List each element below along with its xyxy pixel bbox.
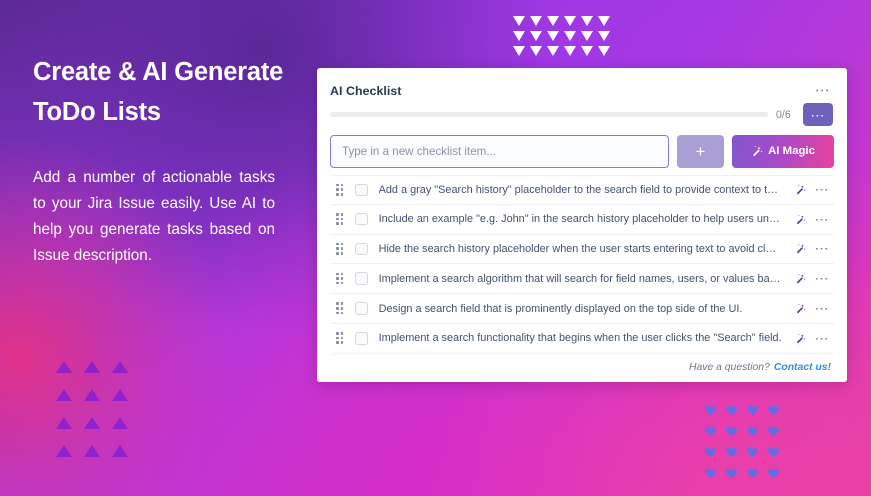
decor-triangle <box>598 31 610 41</box>
checklist-item-label: Add a gray "Search history" placeholder … <box>379 183 790 197</box>
checklist-item-menu-ellipsis-icon[interactable]: ⋯ <box>810 335 834 342</box>
decor-heart <box>726 427 737 437</box>
decor-triangle <box>84 389 100 401</box>
checklist-item-checkbox[interactable] <box>355 184 368 197</box>
decor-heart <box>768 469 779 479</box>
decor-triangle <box>56 445 72 457</box>
decor-triangle <box>112 361 128 373</box>
checklist-item-menu-ellipsis-icon[interactable]: ⋯ <box>810 186 834 193</box>
decor-heart <box>747 427 758 437</box>
magic-wand-icon[interactable] <box>790 243 810 254</box>
checklist-items: Add a gray "Search history" placeholder … <box>330 175 834 354</box>
checklist-item-menu-ellipsis-icon[interactable]: ⋯ <box>810 305 834 312</box>
checklist-item-label: Implement a search algorithm that will s… <box>379 272 790 286</box>
drag-handle-icon[interactable] <box>330 243 350 255</box>
promo-stage: Create & AI Generate ToDo Lists Add a nu… <box>0 0 871 496</box>
decor-triangle <box>530 31 542 41</box>
checklist-row[interactable]: Add a gray "Search history" placeholder … <box>330 175 834 205</box>
decor-triangle <box>581 46 593 56</box>
decor-triangle <box>84 445 100 457</box>
decor-triangles-top <box>513 16 615 61</box>
drag-handle-icon[interactable] <box>330 332 350 344</box>
drag-handle-icon[interactable] <box>330 213 350 225</box>
decor-heart <box>705 469 716 479</box>
decor-triangle <box>56 361 72 373</box>
decor-triangle <box>581 16 593 26</box>
decor-triangle <box>56 389 72 401</box>
new-item-row: + AI Magic <box>330 133 834 169</box>
card-options-button[interactable]: ⋯ <box>803 103 833 126</box>
magic-wand-icon[interactable] <box>790 273 810 284</box>
decor-triangles-left <box>56 361 140 473</box>
ai-magic-label: AI Magic <box>768 145 815 157</box>
checklist-row[interactable]: Implement a search algorithm that will s… <box>330 264 834 294</box>
progress-row: 0/6 ⋯ <box>330 100 834 129</box>
checklist-item-label: Implement a search functionality that be… <box>379 331 790 345</box>
decor-heart <box>747 448 758 458</box>
headline-line-2: ToDo Lists <box>33 92 305 132</box>
magic-wand-icon[interactable] <box>790 214 810 225</box>
decor-heart <box>747 469 758 479</box>
contact-us-link[interactable]: Contact us! <box>774 362 831 373</box>
magic-wand-icon[interactable] <box>790 333 810 344</box>
decor-triangle <box>56 417 72 429</box>
ai-checklist-card: AI Checklist ⋯ 0/6 ⋯ + AI Magic <box>317 68 847 382</box>
decor-heart <box>705 448 716 458</box>
checklist-item-menu-ellipsis-icon[interactable]: ⋯ <box>810 245 834 252</box>
decor-triangle <box>564 31 576 41</box>
magic-wand-icon <box>751 145 763 157</box>
decor-triangle <box>564 16 576 26</box>
card-menu-ellipsis-icon[interactable]: ⋯ <box>812 85 834 97</box>
decor-heart <box>705 427 716 437</box>
hero-panel: Create & AI Generate ToDo Lists Add a nu… <box>33 52 305 269</box>
decor-triangle <box>513 46 525 56</box>
magic-wand-icon[interactable] <box>790 303 810 314</box>
hero-description: Add a number of actionable tasks to your… <box>33 165 275 269</box>
page-title: Create & AI Generate ToDo Lists <box>33 52 305 132</box>
decor-heart <box>726 406 737 416</box>
card-header: AI Checklist ⋯ <box>330 68 834 100</box>
checklist-item-menu-ellipsis-icon[interactable]: ⋯ <box>810 275 834 282</box>
checklist-row[interactable]: Design a search field that is prominentl… <box>330 294 834 324</box>
decor-triangle <box>84 417 100 429</box>
checklist-item-label: Design a search field that is prominentl… <box>379 302 790 316</box>
decor-triangle <box>112 417 128 429</box>
checklist-item-label: Include an example "e.g. John" in the se… <box>379 212 790 226</box>
ai-magic-button[interactable]: AI Magic <box>732 135 834 168</box>
drag-handle-icon[interactable] <box>330 184 350 196</box>
checklist-row[interactable]: Include an example "e.g. John" in the se… <box>330 205 834 235</box>
add-item-button[interactable]: + <box>677 135 724 168</box>
decor-triangle <box>84 361 100 373</box>
checklist-row[interactable]: Hide the search history placeholder when… <box>330 235 834 265</box>
decor-triangle <box>547 31 559 41</box>
checklist-item-checkbox[interactable] <box>355 213 368 226</box>
decor-triangle <box>112 389 128 401</box>
decor-triangle <box>112 445 128 457</box>
decor-heart <box>768 427 779 437</box>
decor-triangle <box>530 16 542 26</box>
decor-heart <box>768 448 779 458</box>
new-checklist-item-input[interactable] <box>330 135 669 168</box>
progress-count-label: 0/6 <box>776 109 795 121</box>
decor-triangle <box>547 16 559 26</box>
magic-wand-icon[interactable] <box>790 184 810 195</box>
checklist-item-menu-ellipsis-icon[interactable]: ⋯ <box>810 216 834 223</box>
decor-triangle <box>598 16 610 26</box>
decor-heart <box>705 406 716 416</box>
decor-triangle <box>530 46 542 56</box>
headline-line-1: Create & AI Generate <box>33 58 283 86</box>
decor-hearts-right <box>705 406 789 490</box>
checklist-item-checkbox[interactable] <box>355 243 368 256</box>
decor-triangle <box>513 16 525 26</box>
card-footer: Have a question? Contact us! <box>330 354 834 382</box>
checklist-item-checkbox[interactable] <box>355 332 368 345</box>
decor-triangle <box>513 31 525 41</box>
drag-handle-icon[interactable] <box>330 302 350 314</box>
progress-bar <box>330 112 768 117</box>
decor-triangle <box>598 46 610 56</box>
checklist-item-checkbox[interactable] <box>355 272 368 285</box>
decor-heart <box>747 406 758 416</box>
decor-heart <box>726 448 737 458</box>
footer-question: Have a question? <box>689 362 770 373</box>
checklist-item-label: Hide the search history placeholder when… <box>379 242 790 256</box>
checklist-row[interactable]: Implement a search functionality that be… <box>330 324 834 354</box>
checklist-item-checkbox[interactable] <box>355 302 368 315</box>
decor-triangle <box>564 46 576 56</box>
card-title: AI Checklist <box>330 84 402 98</box>
decor-triangle <box>547 46 559 56</box>
drag-handle-icon[interactable] <box>330 273 350 285</box>
ellipsis-icon: ⋯ <box>810 112 825 118</box>
decor-heart <box>726 469 737 479</box>
decor-heart <box>768 406 779 416</box>
decor-triangle <box>581 31 593 41</box>
